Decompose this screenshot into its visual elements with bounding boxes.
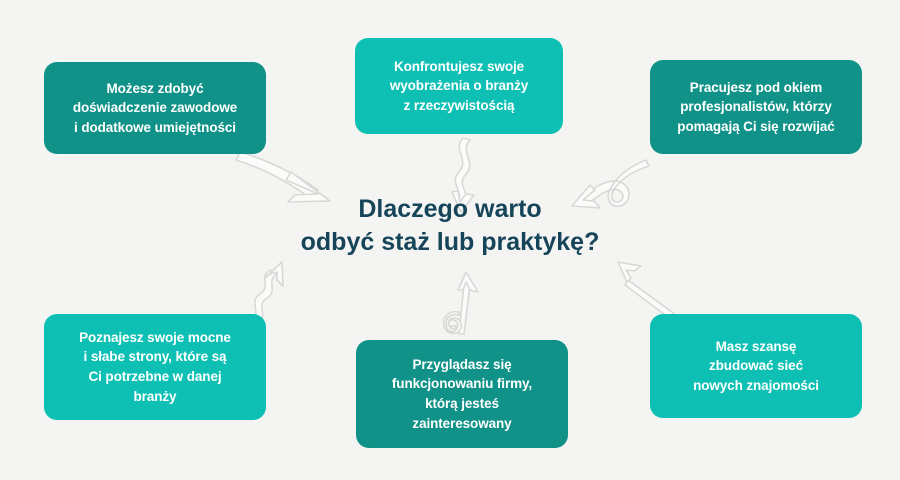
benefit-card-top-right[interactable]: Pracujesz pod okiem profesjonalistów, kt…	[650, 60, 862, 154]
benefit-card-bottom-center-label: Przyglądasz się funkcjonowaniu firmy, kt…	[392, 355, 532, 433]
benefit-card-bottom-center[interactable]: Przyglądasz się funkcjonowaniu firmy, kt…	[356, 340, 568, 448]
arrow-bottom-right-to-center	[618, 262, 676, 320]
benefit-card-bottom-right-label: Masz szansę zbudować sieć nowych znajomo…	[693, 337, 819, 396]
benefit-card-bottom-right[interactable]: Masz szansę zbudować sieć nowych znajomo…	[650, 314, 862, 418]
center-title: Dlaczego warto odbyć staż lub praktykę?	[230, 193, 670, 259]
benefit-card-bottom-left[interactable]: Poznajesz swoje mocne i słabe strony, kt…	[44, 314, 266, 420]
benefit-card-top-right-label: Pracujesz pod okiem profesjonalistów, kt…	[677, 78, 834, 137]
infographic-diagram: Możesz zdobyć doświadczenie zawodowe i d…	[0, 0, 900, 480]
benefit-card-top-left-label: Możesz zdobyć doświadczenie zawodowe i d…	[73, 79, 237, 138]
benefit-card-top-center[interactable]: Konfrontujesz swoje wyobrażenia o branży…	[355, 38, 563, 134]
benefit-card-top-left[interactable]: Możesz zdobyć doświadczenie zawodowe i d…	[44, 62, 266, 154]
benefit-card-bottom-left-label: Poznajesz swoje mocne i słabe strony, kt…	[79, 328, 231, 406]
benefit-card-top-center-label: Konfrontujesz swoje wyobrażenia o branży…	[390, 57, 528, 116]
arrow-bottom-center-to-center	[444, 272, 478, 334]
